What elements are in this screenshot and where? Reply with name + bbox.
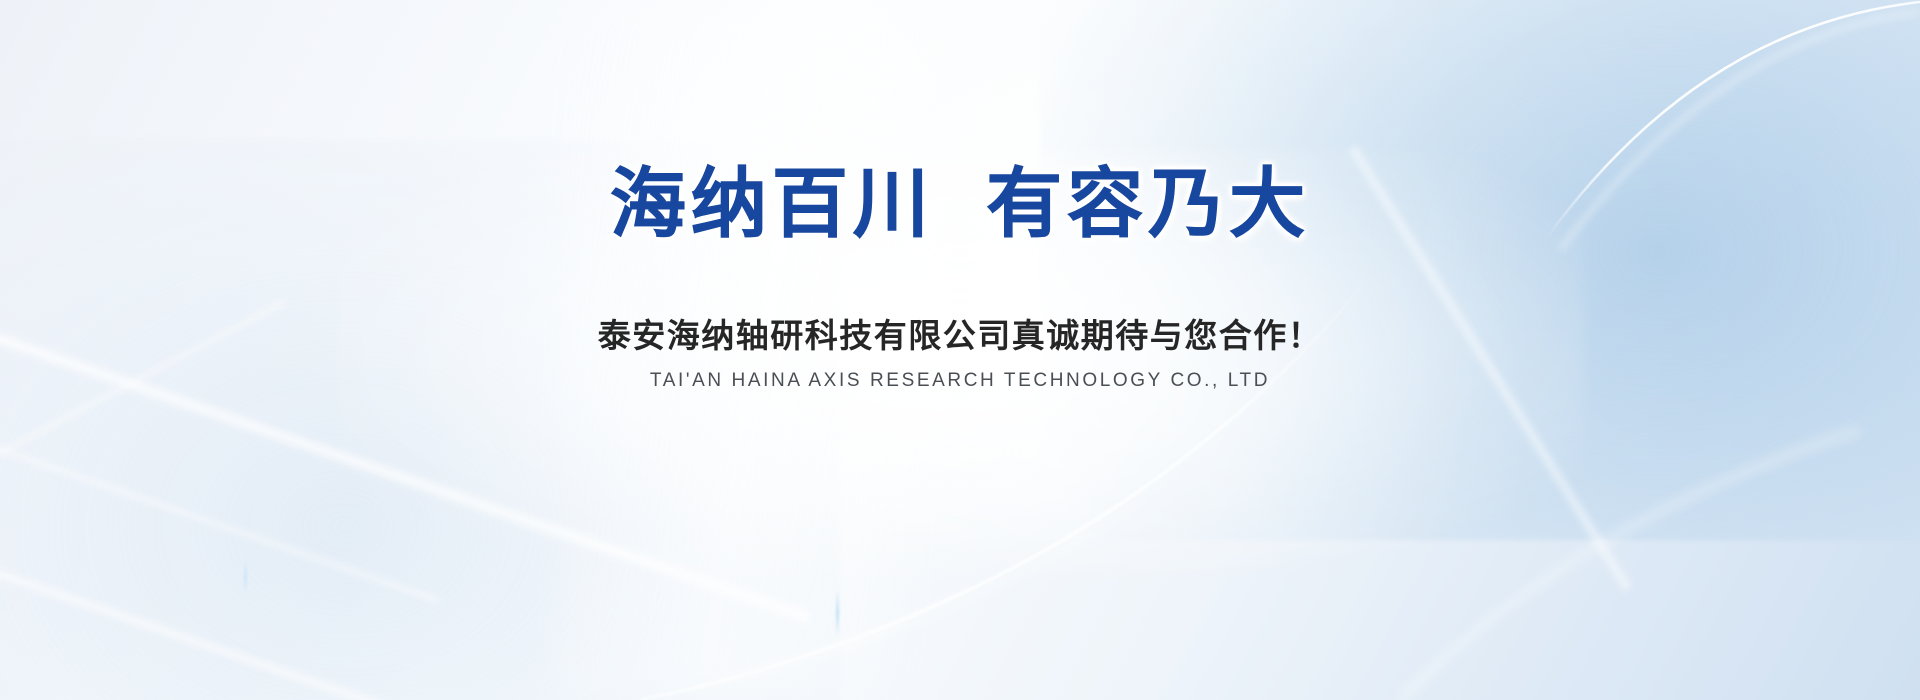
banner-content: 海纳百川 有容乃大 泰安海纳轴研科技有限公司真诚期待与您合作！ TAI'AN H… [0,0,1920,700]
subtitle-english: TAI'AN HAINA AXIS RESEARCH TECHNOLOGY CO… [650,370,1270,392]
hero-banner: 海纳百川 有容乃大 泰安海纳轴研科技有限公司真诚期待与您合作！ TAI'AN H… [0,0,1920,700]
page-title: 海纳百川 有容乃大 [610,165,1310,245]
subtitle-chinese: 泰安海纳轴研科技有限公司真诚期待与您合作！ [598,309,1323,357]
